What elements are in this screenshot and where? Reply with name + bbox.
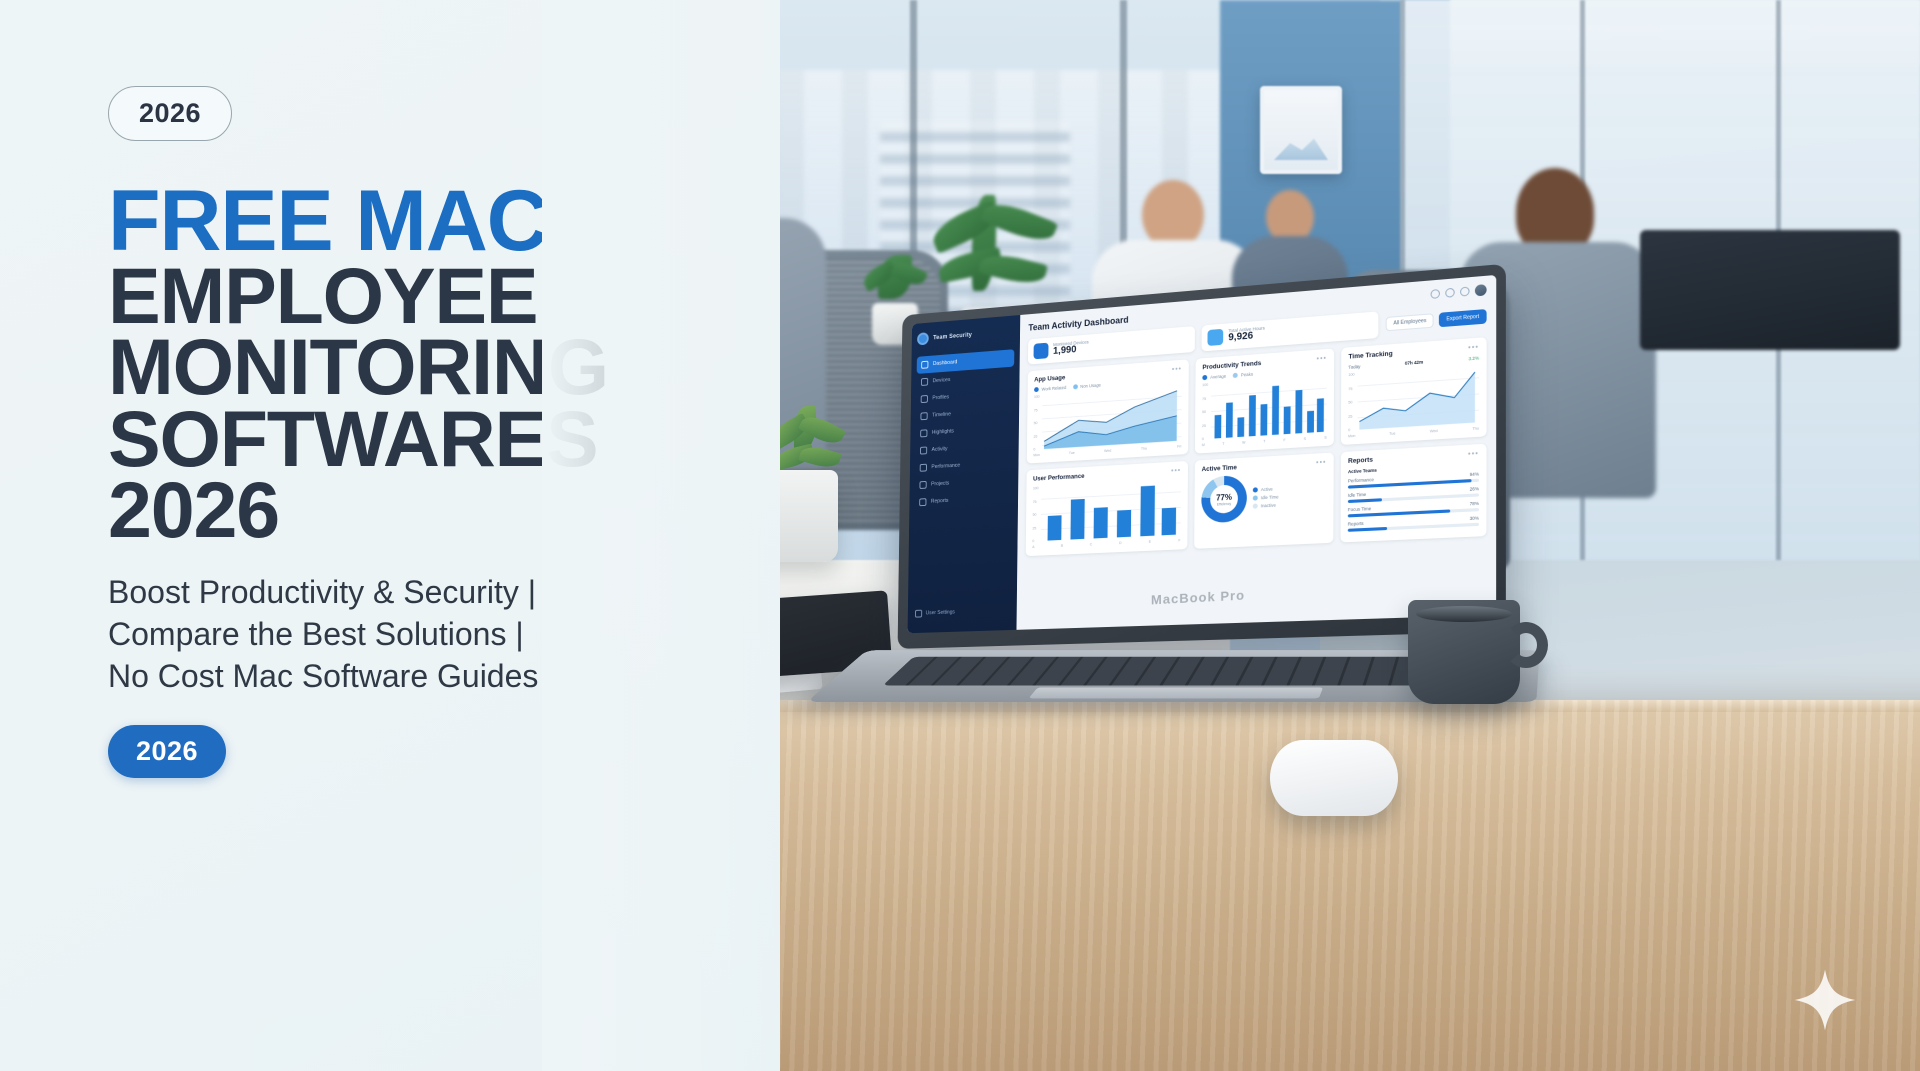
line-chart-svg: [1357, 364, 1479, 432]
active-time-donut: 77% Efficiency Active Idle Time Inactive: [1201, 470, 1326, 523]
time-stat-delta: 3.2%: [1468, 355, 1479, 361]
dashboard-sidebar: Team Security Dashboard Devices Pro: [908, 315, 1021, 633]
banner-root: Team Security Dashboard Devices Pro: [0, 0, 1920, 1071]
card-user-performance: User Performance ••• 1007550250: [1026, 461, 1188, 556]
kpi-card-devices: Monitored Devices 1,990: [1028, 326, 1195, 364]
sparkle-icon: [1792, 967, 1858, 1033]
bell-icon[interactable]: [1445, 288, 1455, 298]
card-productivity-trends: Productivity Trends ••• Average Peaks 10…: [1195, 348, 1334, 453]
report-label: Focus Time: [1348, 506, 1371, 512]
user-performance-chart: 1007550250: [1032, 478, 1181, 543]
time-tracking-chart: 1007550250: [1348, 364, 1479, 433]
donut-center: 77% Efficiency: [1210, 484, 1238, 514]
card-time-tracking: Time Tracking ••• Today 07h 42m 3.2% 100…: [1341, 337, 1487, 445]
employee-filter-dropdown[interactable]: All Employees: [1386, 313, 1434, 331]
card-title: Active Time: [1202, 464, 1237, 473]
laptop-screen: Team Security Dashboard Devices Pro: [908, 275, 1497, 633]
area-chart-svg: [1042, 385, 1182, 451]
y-axis: 1007550250: [1032, 486, 1038, 543]
kpi-card-hours: Total Active Hours 9,926: [1202, 311, 1379, 351]
card-app-usage: App Usage ••• Work Related Non Usage 100…: [1027, 359, 1189, 463]
sidebar-item-label: Reports: [931, 498, 949, 505]
report-row: Idle Time 26%: [1348, 486, 1479, 503]
y-axis: 1007550250: [1202, 383, 1208, 441]
report-value: 30%: [1470, 515, 1479, 521]
sidebar-item-label: Dashboard: [933, 359, 958, 367]
card-title: App Usage: [1034, 374, 1065, 383]
kpi-value: 1,990: [1053, 345, 1089, 358]
shield-icon: [917, 332, 929, 345]
pulse-icon: [920, 447, 927, 455]
background-monitor: [1640, 230, 1900, 350]
time-stat-value: 07h 42m: [1405, 359, 1423, 365]
kpi-value: 9,926: [1228, 331, 1264, 344]
legend-swatch: [1202, 375, 1207, 380]
coffee-mug: [1408, 600, 1520, 704]
folder-icon: [919, 481, 926, 489]
legend-label: Work Related: [1041, 385, 1066, 392]
dashboard-main: Team Activity Dashboard: [1016, 275, 1496, 630]
legend-swatch: [1253, 495, 1258, 500]
report-label: Reports: [1348, 521, 1364, 527]
more-options-icon[interactable]: •••: [1171, 467, 1181, 475]
legend-label: Average: [1210, 374, 1226, 380]
grid-icon: [921, 361, 928, 369]
sidebar-footer-label: User Settings: [926, 609, 955, 616]
sidebar-item-label: Devices: [933, 377, 951, 384]
export-report-button[interactable]: Export Report: [1439, 309, 1487, 327]
progress-fill: [1348, 498, 1382, 503]
sidebar-item-label: Timeline: [932, 411, 951, 418]
legend-swatch: [1034, 387, 1039, 392]
report-label: Idle Time: [1348, 492, 1366, 498]
reports-subtitle: Active Teams: [1348, 468, 1377, 475]
year-badge-top: 2026: [108, 86, 232, 141]
year-badge-bottom: 2026: [108, 725, 226, 778]
avatar[interactable]: [1475, 284, 1487, 296]
app-brand-label: Team Security: [933, 332, 972, 341]
card-title: User Performance: [1033, 473, 1085, 483]
page-title: Team Activity Dashboard: [1028, 314, 1128, 332]
card-title: Productivity Trends: [1202, 360, 1261, 371]
more-options-icon[interactable]: •••: [1316, 459, 1327, 467]
devices-icon: [1034, 343, 1049, 360]
clock-icon: [920, 412, 927, 420]
report-value: 26%: [1470, 486, 1479, 492]
report-value: 78%: [1470, 501, 1479, 507]
trackpad[interactable]: [1028, 688, 1323, 699]
mug-handle: [1504, 622, 1548, 668]
app-usage-chart: 1007550250: [1033, 385, 1181, 452]
legend-swatch: [1073, 384, 1078, 389]
report-row: Reports 30%: [1348, 515, 1479, 531]
productivity-chart: 1007550250: [1202, 374, 1327, 441]
panel-fade-overlay: [542, 0, 782, 1071]
star-icon: [920, 429, 927, 437]
card-title: Reports: [1348, 456, 1373, 465]
keyboard[interactable]: [883, 657, 1458, 686]
y-axis: 1007550250: [1033, 395, 1039, 452]
sidebar-item-label: Performance: [931, 463, 960, 470]
hours-icon: [1208, 329, 1224, 346]
legend-swatch: [1233, 373, 1238, 378]
sidebar-item-label: Profiles: [932, 394, 949, 401]
card-title: Time Tracking: [1348, 350, 1392, 360]
legend-label: Peaks: [1241, 372, 1253, 378]
card-active-time: Active Time ••• 77% Efficiency: [1194, 453, 1334, 549]
report-row: Focus Time 78%: [1348, 501, 1479, 518]
sidebar-item-label: Projects: [931, 481, 949, 488]
legend-swatch: [1253, 487, 1258, 492]
gear-icon[interactable]: [1460, 287, 1470, 297]
app-logo: Team Security: [917, 325, 1015, 345]
sidebar-item-label: Highlights: [932, 429, 954, 436]
legend-swatch: [1253, 503, 1258, 508]
bar-chart-svg: [1211, 374, 1327, 440]
office-scene-photo: Team Security Dashboard Devices Pro: [760, 0, 1920, 1071]
dashboard-card-grid: App Usage ••• Work Related Non Usage 100…: [1026, 337, 1487, 556]
bar-chart-svg: [1041, 478, 1181, 542]
sidebar-item-label: Activity: [932, 446, 948, 453]
more-options-icon[interactable]: •••: [1172, 366, 1182, 374]
document-icon: [919, 498, 926, 506]
gear-icon: [915, 610, 922, 618]
donut-legend: Active Idle Time Inactive: [1253, 486, 1279, 509]
time-stat-label: Today: [1348, 364, 1360, 370]
monitor-icon: [921, 378, 928, 386]
more-options-icon[interactable]: •••: [1316, 355, 1327, 363]
wall-picture: [1260, 86, 1342, 174]
filter-row: All Employees Export Report: [1386, 303, 1487, 338]
legend-label: Non Usage: [1080, 383, 1101, 389]
wireless-mouse: [1270, 740, 1398, 816]
donut-caption: Efficiency: [1217, 501, 1231, 506]
donut-chart: 77% Efficiency: [1201, 475, 1247, 524]
header-actions: [1430, 284, 1486, 300]
legend-label: Inactive: [1261, 502, 1276, 508]
more-options-icon[interactable]: •••: [1468, 344, 1479, 352]
legend-label: Active: [1261, 486, 1273, 492]
chart-icon: [920, 464, 927, 472]
report-label: Performance: [1348, 477, 1374, 484]
legend-label: Idle Time: [1261, 494, 1279, 500]
report-value: 94%: [1470, 471, 1479, 477]
left-text-panel: 2026 FREE MAC EMPLOYEE MONITORING SOFTWA…: [0, 0, 780, 1071]
y-axis: 1007550250: [1348, 373, 1354, 433]
user-icon: [921, 395, 928, 403]
search-icon[interactable]: [1431, 289, 1440, 299]
more-options-icon[interactable]: •••: [1468, 450, 1479, 458]
sidebar-footer[interactable]: User Settings: [915, 609, 955, 618]
card-reports: Reports ••• Active Teams Performance: [1341, 444, 1487, 543]
progress-fill: [1348, 527, 1387, 532]
